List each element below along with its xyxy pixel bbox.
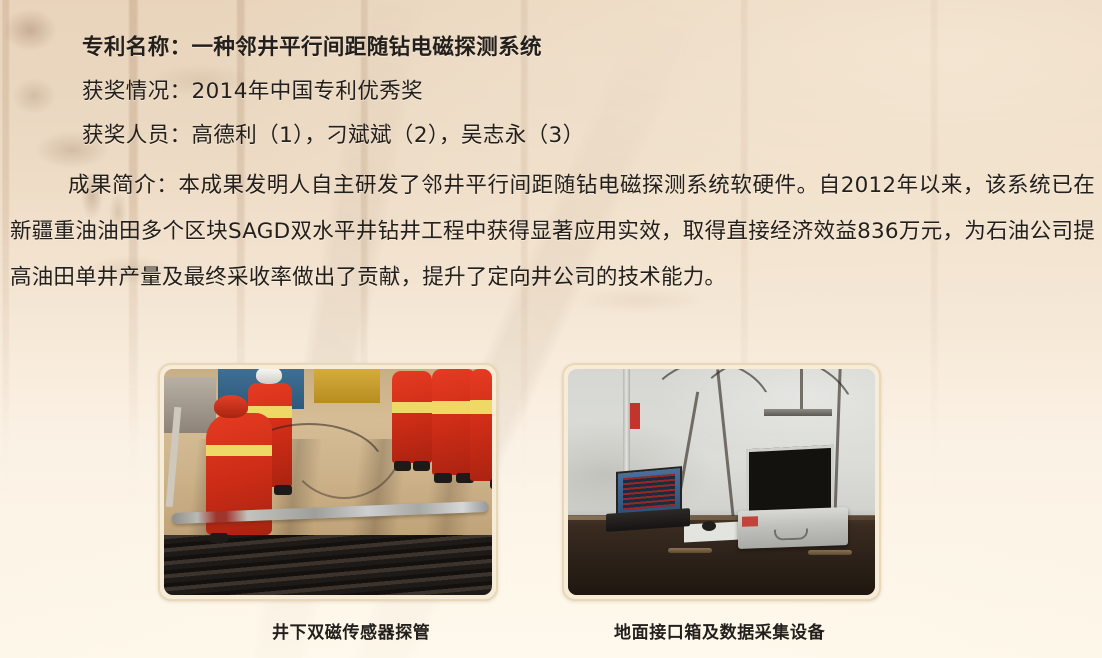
photo2-drawer-handle	[808, 550, 852, 555]
photo2-cable	[688, 369, 858, 425]
photo1-worker-stripe	[470, 400, 492, 413]
patent-name-line: 专利名称：一种邻井平行间距随钻电磁探测系统	[82, 30, 542, 61]
figure-2-caption: 地面接口箱及数据采集设备	[614, 618, 825, 643]
photo2-monitor	[746, 445, 834, 514]
photo-rig-crew-drill-pipes	[164, 369, 492, 595]
photo2-data-acquisition-case	[738, 507, 848, 549]
photo1-worker-boot	[434, 473, 452, 483]
awardees-line: 获奖人员：高德利（1），刁斌斌（2），吴志永（3）	[82, 118, 585, 149]
photo1-worker-boot	[490, 479, 492, 489]
figure-surface-interface-box-and-data-acquisition	[562, 363, 881, 601]
photo2-drawer-handle	[668, 548, 712, 553]
figure-downhole-dual-magnetic-sensor-probe	[158, 363, 498, 601]
photo1-yellow-equipment	[314, 369, 380, 403]
photo1-worker-coverall	[470, 369, 492, 481]
photo2-case-label	[742, 516, 758, 527]
slide-canvas: 专利名称：一种邻井平行间距随钻电磁探测系统 获奖情况：2014年中国专利优秀奖 …	[0, 0, 1102, 658]
photo2-red-wall-marker	[630, 403, 640, 429]
photo2-mouse	[702, 521, 716, 531]
photo1-worker	[470, 369, 492, 481]
figure-1-caption: 井下双磁传感器探管	[272, 618, 430, 643]
photo-laptop-and-acquisition-case	[568, 369, 875, 595]
photo1-red-helmet-icon	[214, 395, 248, 418]
award-status-line: 获奖情况：2014年中国专利优秀奖	[82, 74, 423, 105]
photo2-cable	[800, 369, 803, 413]
photo1-worker-boot	[413, 461, 430, 471]
photo2-wall-shelf	[764, 409, 832, 416]
photo1-worker-stripe	[206, 445, 272, 456]
photo1-worker-boot	[210, 533, 228, 543]
summary-paragraph: 成果简介：本成果发明人自主研发了邻井平行间距随钻电磁探测系统软硬件。自2012年…	[10, 163, 1095, 301]
photo2-case-handle	[774, 528, 808, 540]
photo1-white-helmet-icon	[256, 369, 282, 384]
photo2-laptop-screen-content	[623, 474, 675, 511]
photo1-worker-stripe	[392, 402, 432, 413]
photo1-worker-boot	[274, 485, 292, 495]
